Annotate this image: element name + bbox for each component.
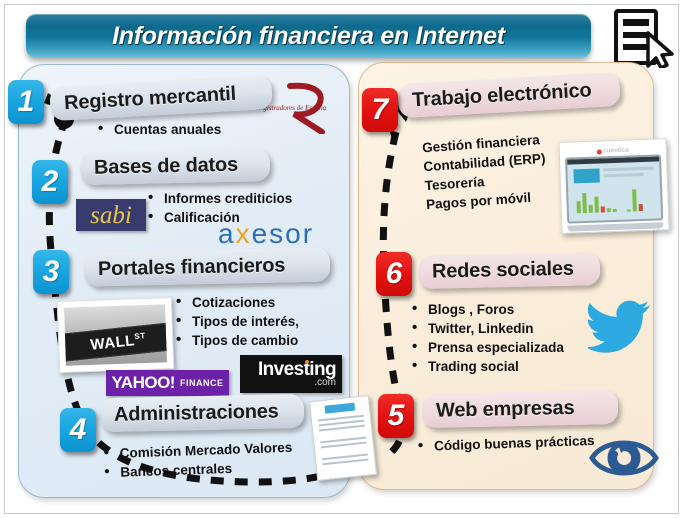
badge-5[interactable]: 5 [378, 394, 414, 438]
list-item: Cuentas anuales [98, 120, 221, 139]
badge-2[interactable]: 2 [32, 160, 68, 204]
infographic-canvas: Información financiera en Internet 1 Reg… [0, 0, 683, 518]
badge-3[interactable]: 3 [33, 250, 69, 294]
document-cursor-icon [612, 8, 674, 68]
badge-1[interactable]: 1 [8, 80, 44, 124]
list-item: Informes crediticios [148, 189, 292, 208]
heading-administraciones[interactable]: Administraciones [100, 394, 305, 432]
page-title-bar: Información financiera en Internet [26, 14, 591, 58]
cuentica-laptop-screenshot: cuentica [558, 138, 669, 234]
badge-7[interactable]: 7 [362, 88, 398, 132]
heading-portales-financieros[interactable]: Portales financieros [84, 247, 331, 286]
list-item: Prensa especializada [412, 338, 564, 357]
heading-redes-sociales[interactable]: Redes sociales [418, 252, 601, 289]
list-item: Trading social [412, 357, 564, 376]
list-item: Cotizaciones [176, 293, 299, 312]
confianza-online-eye-icon [588, 430, 660, 484]
cnmv-document-thumbnail [309, 395, 377, 481]
bullets-registro-mercantil: Cuentas anuales [98, 120, 221, 139]
list-item: Twitter, Linkedin [412, 319, 564, 338]
badge-6[interactable]: 6 [376, 252, 412, 296]
yahoo-finance-logo: YAHOO! FINANCE [106, 370, 229, 396]
list-item: Calificación [148, 208, 292, 227]
bullets-bases-de-datos: Informes crediticios Calificación [148, 189, 292, 227]
list-item: Tipos de interés, [176, 312, 299, 331]
heading-bases-de-datos[interactable]: Bases de datos [80, 148, 271, 185]
badge-4[interactable]: 4 [60, 408, 96, 452]
bullets-trabajo-electronico: Gestión financiera Contabilidad (ERP) Te… [421, 130, 548, 214]
heading-web-empresas[interactable]: Web empresas [422, 390, 619, 428]
wall-street-photo: WALLST [57, 297, 174, 373]
bullets-redes-sociales: Blogs , Foros Twitter, Linkedin Prensa e… [412, 300, 564, 376]
list-item: Blogs , Foros [412, 300, 564, 319]
page-title: Información financiera en Internet [112, 22, 505, 51]
list-item: Tipos de cambio [176, 331, 299, 350]
investing-com-logo: Investing .com [240, 355, 342, 393]
bullets-portales-financieros: Cotizaciones Tipos de interés, Tipos de … [176, 293, 299, 350]
bullets-administraciones: Comisión Mercado Valores Bancos centrale… [103, 438, 293, 483]
sabi-logo: sabi [76, 199, 146, 231]
twitter-bird-icon [588, 300, 654, 358]
